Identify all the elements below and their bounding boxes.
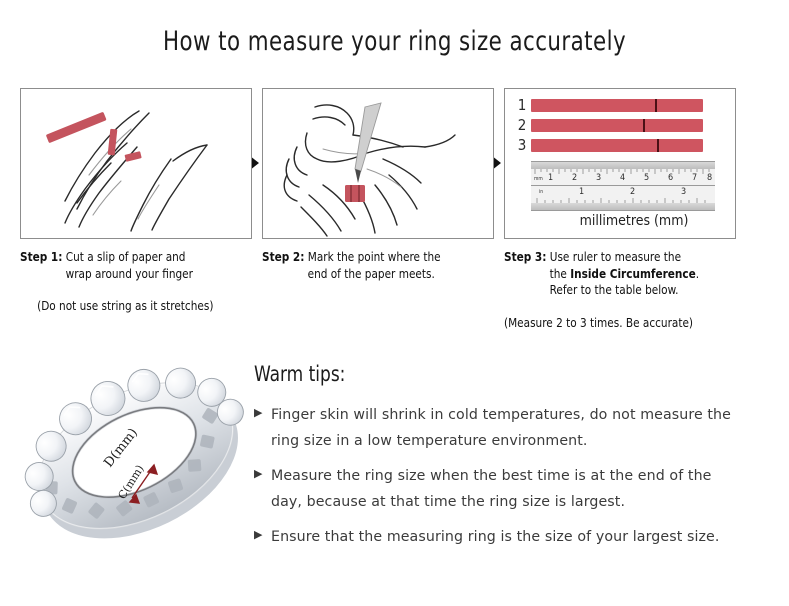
strip-mark <box>655 99 657 112</box>
step-1-line-2: wrap around your finger <box>20 266 240 283</box>
step-3-line-1: Use ruler to measure the <box>550 250 681 264</box>
tip-list-item: ▶ Finger skin will shrink in cold temper… <box>254 402 774 454</box>
strip-row: 2 <box>513 117 729 134</box>
tip-text: Finger skin will shrink in cold temperat… <box>271 402 741 454</box>
ruler-cm-number: 4 <box>620 174 625 183</box>
step-column-1: Step 1: Cut a slip of paper and wrap aro… <box>20 88 252 313</box>
ring-diagram: D(mm) C(mm) <box>18 348 254 564</box>
step-2-line-1: Mark the point where the <box>308 250 441 264</box>
step-2-line-2: end of the paper meets. <box>262 266 482 283</box>
step-3-line-2-pre: the <box>550 267 571 281</box>
warm-tips-section: Warm tips: ▶ Finger skin will shrink in … <box>254 362 774 559</box>
step-3-line-3: Refer to the table below. <box>504 282 724 299</box>
ruler-inch-number: 3 <box>681 188 686 197</box>
step-3-panel: 1 2 3 <box>504 88 736 239</box>
tip-list-item: ▶ Ensure that the measuring ring is the … <box>254 524 774 550</box>
ruler-cm-number: 8 <box>707 174 712 183</box>
ruler-cm-number: 2 <box>572 174 577 183</box>
step-1-caption: Step 1: Cut a slip of paper and wrap aro… <box>20 249 240 282</box>
paper-strip <box>531 139 703 152</box>
ruler-cm-number: 6 <box>668 174 673 183</box>
page-title: How to measure your ring size accurately <box>47 26 741 57</box>
tip-text: Measure the ring size when the best time… <box>271 463 741 515</box>
triangle-bullet-icon: ▶ <box>254 402 271 418</box>
ruler-graphic: 1 2 3 4 5 6 7 8 mm 1 2 3 in <box>531 161 715 211</box>
step-1-label: Step 1: <box>20 250 62 264</box>
step-3-caption: Step 3: Use ruler to measure the the Ins… <box>504 249 724 299</box>
triangle-bullet-icon: ▶ <box>254 524 271 540</box>
step-3-label: Step 3: <box>504 250 546 264</box>
step-1-line-1: Cut a slip of paper and <box>66 250 186 264</box>
paper-strip <box>531 99 703 112</box>
strip-row: 1 <box>513 97 729 114</box>
step-2-label: Step 2: <box>262 250 304 264</box>
step-3-line-2-post: . <box>696 267 699 281</box>
tip-list-item: ▶ Measure the ring size when the best ti… <box>254 463 774 515</box>
strip-number: 2 <box>513 118 531 133</box>
ruler-cm-unit-tag: mm <box>534 177 543 182</box>
strip-row: 3 <box>513 137 729 154</box>
strip-mark <box>643 119 645 132</box>
triangle-bullet-icon: ▶ <box>254 463 271 479</box>
paper-strip <box>531 119 703 132</box>
step-1-panel <box>20 88 252 239</box>
strip-number: 3 <box>513 138 531 153</box>
strip-mark <box>657 139 659 152</box>
step-2-caption: Step 2: Mark the point where the end of … <box>262 249 482 282</box>
ruler-cm-number: 1 <box>548 174 553 183</box>
step-3-note: (Measure 2 to 3 times. Be accurate) <box>504 316 724 330</box>
ruler-inch-number: 2 <box>630 188 635 197</box>
warm-tips-title: Warm tips: <box>254 362 722 386</box>
ruler-inch-number: 1 <box>579 188 584 197</box>
tip-text: Ensure that the measuring ring is the si… <box>271 524 720 550</box>
step-2-panel <box>262 88 494 239</box>
ruler-cm-number: 5 <box>644 174 649 183</box>
steps-row: Step 1: Cut a slip of paper and wrap aro… <box>0 88 789 338</box>
step-1-note: (Do not use string as it stretches) <box>20 299 240 313</box>
measured-strips-group: 1 2 3 <box>513 97 729 157</box>
strip-number: 1 <box>513 98 531 113</box>
step-3-line-2: the Inside Circumference. <box>504 266 724 283</box>
ruler-cm-number: 7 <box>692 174 697 183</box>
step-3-emphasis: Inside Circumference <box>570 267 696 281</box>
step-column-2: Step 2: Mark the point where the end of … <box>262 88 494 282</box>
step-column-3: 1 2 3 <box>504 88 736 330</box>
ruler-unit-label: millimetres (mm) <box>505 213 736 229</box>
ruler-inch-unit-tag: in <box>539 190 543 195</box>
ruler-cm-number: 3 <box>596 174 601 183</box>
